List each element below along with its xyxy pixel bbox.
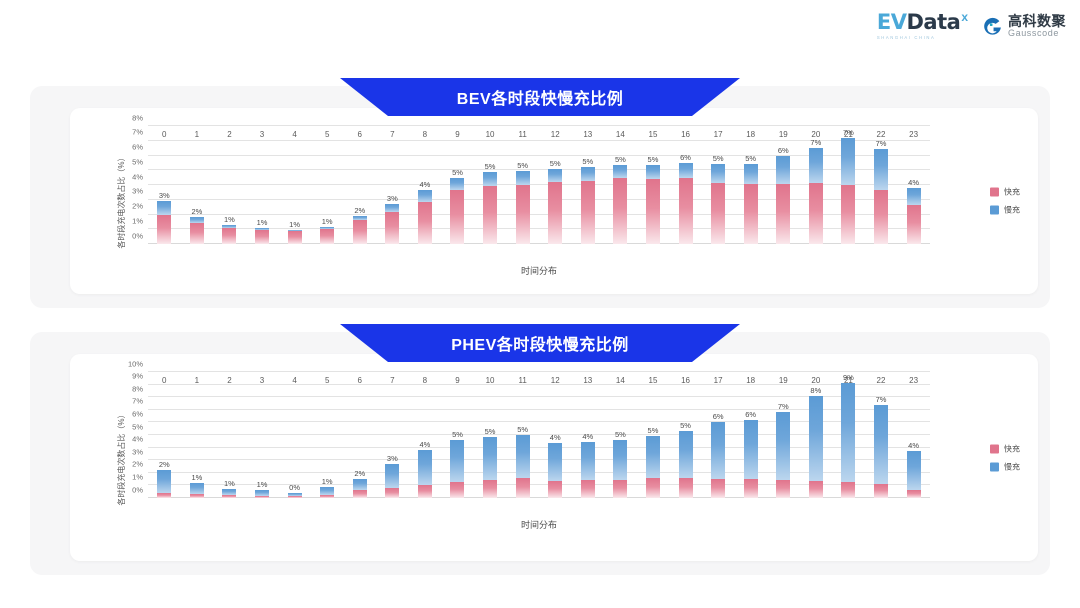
phev-bar-segment-fast[interactable] (711, 479, 725, 498)
phev-stacked-bar[interactable]: 5% (483, 437, 497, 498)
bev-x-tick: 2 (227, 130, 231, 139)
phev-stacked-bar[interactable]: 2% (157, 470, 171, 498)
bev-bar-slot[interactable]: 21% (213, 126, 246, 244)
phev-stacked-bar[interactable]: 5% (679, 431, 693, 498)
phev-x-tick: 1 (195, 376, 199, 385)
phev-bar-segment-slow[interactable] (483, 437, 497, 480)
bev-bar-segment-fast[interactable] (255, 230, 269, 244)
bev-bar-slot[interactable]: 84% (409, 126, 442, 244)
phev-y-tick: 6% (132, 409, 143, 418)
bev-x-tick: 8 (423, 130, 427, 139)
bev-bar-slot[interactable]: 51% (311, 126, 344, 244)
phev-legend-item[interactable]: 快充 (990, 443, 1020, 454)
phev-bar-value-label: 1% (224, 479, 235, 488)
phev-chart: 各时段充电次数占比（%） 0%1%2%3%4%5%6%7%8%9%10%02%1… (70, 354, 1038, 561)
phev-bar-segment-fast[interactable] (613, 480, 627, 498)
bev-legend-swatch (990, 188, 999, 197)
bev-y-tick: 2% (132, 202, 143, 211)
bev-bar-value-label: 5% (452, 168, 463, 177)
bev-bar-segment-slow[interactable] (157, 201, 171, 215)
bev-bar-value-label: 1% (257, 218, 268, 227)
bev-bar-segment-fast[interactable] (483, 186, 497, 244)
bev-y-tick: 5% (132, 157, 143, 166)
phev-bar-segment-slow[interactable] (581, 442, 595, 480)
phev-x-tick: 15 (649, 376, 658, 385)
phev-bar-slot[interactable]: 31% (246, 372, 279, 498)
phev-bar-slot[interactable]: 21% (213, 372, 246, 498)
phev-x-tick: 14 (616, 376, 625, 385)
bev-stacked-bar[interactable]: 5% (548, 169, 562, 244)
bev-bar-value-label: 1% (322, 217, 333, 226)
phev-stacked-bar[interactable]: 5% (613, 440, 627, 498)
bev-bar-segment-fast[interactable] (450, 190, 464, 244)
bev-x-tick: 23 (909, 130, 918, 139)
bev-bar-segment-slow[interactable] (581, 167, 595, 180)
phev-bar-slot[interactable]: 165% (669, 372, 702, 498)
phev-x-tick: 17 (714, 376, 723, 385)
bev-bar-slot[interactable]: 196% (767, 126, 800, 244)
bev-x-tick: 5 (325, 130, 329, 139)
bev-y-tick: 0% (132, 231, 143, 240)
bev-bar-segment-slow[interactable] (711, 164, 725, 183)
bev-stacked-bar[interactable]: 1% (222, 225, 236, 244)
bev-bar-segment-slow[interactable] (548, 169, 562, 182)
bev-stacked-bar[interactable]: 1% (320, 227, 334, 244)
bev-chart-card: 各时段充电次数占比（%） 0%1%2%3%4%5%6%7%8%03%12%21%… (70, 108, 1038, 294)
bev-stacked-bar[interactable]: 5% (450, 178, 464, 244)
bev-bar-segment-slow[interactable] (516, 171, 530, 185)
phev-bar-value-label: 5% (517, 425, 528, 434)
bev-bar-value-label: 7% (876, 139, 887, 148)
bev-stacked-bar[interactable]: 1% (288, 230, 302, 244)
phev-bar-segment-slow[interactable] (679, 431, 693, 479)
phev-x-tick: 20 (811, 376, 820, 385)
bev-bar-slot[interactable]: 185% (734, 126, 767, 244)
bev-y-tick: 3% (132, 187, 143, 196)
bev-bar-segment-fast[interactable] (711, 183, 725, 244)
bev-bar-slot[interactable]: 125% (539, 126, 572, 244)
bev-bar-value-label: 3% (387, 194, 398, 203)
bev-bar-value-label: 3% (159, 191, 170, 200)
phev-bar-value-label: 4% (550, 433, 561, 442)
phev-bar-value-label: 7% (778, 402, 789, 411)
phev-bar-value-label: 0% (289, 483, 300, 492)
phev-bar-segment-fast[interactable] (679, 478, 693, 498)
bev-bar-segment-fast[interactable] (809, 183, 823, 244)
phev-bar-segment-fast[interactable] (385, 488, 399, 498)
phev-bar-slot[interactable]: 115% (506, 372, 539, 498)
bev-legend-label: 慢充 (1004, 205, 1020, 216)
phev-x-tick: 2 (227, 376, 231, 385)
bev-stacked-bar[interactable]: 2% (353, 216, 367, 244)
phev-bar-segment-slow[interactable] (516, 435, 530, 478)
phev-y-tick: 3% (132, 447, 143, 456)
bev-stacked-bar[interactable]: 5% (646, 165, 660, 244)
phev-bar-segment-fast[interactable] (809, 481, 823, 498)
bev-bar-slot[interactable]: 03% (148, 126, 181, 244)
phev-bar-slot[interactable]: 11% (181, 372, 214, 498)
bev-bar-value-label: 2% (191, 207, 202, 216)
bev-legend-item[interactable]: 快充 (990, 187, 1020, 198)
bev-bar-value-label: 5% (745, 154, 756, 163)
phev-legend-label: 慢充 (1004, 461, 1020, 472)
phev-bar-segment-slow[interactable] (841, 383, 855, 482)
bev-bar-segment-slow[interactable] (190, 217, 204, 224)
phev-x-tick: 23 (909, 376, 918, 385)
phev-bar-segment-slow[interactable] (548, 443, 562, 481)
bev-bar-value-label: 5% (713, 154, 724, 163)
bev-bar-slot[interactable]: 115% (506, 126, 539, 244)
phev-bar-slot[interactable]: 124% (539, 372, 572, 498)
phev-x-tick: 9 (455, 376, 459, 385)
bev-plot-area: 0%1%2%3%4%5%6%7%8%03%12%21%31%41%51%62%7… (148, 126, 930, 244)
bev-stacked-bar[interactable]: 6% (679, 163, 693, 244)
phev-x-tick: 18 (746, 376, 755, 385)
phev-bar-segment-slow[interactable] (646, 436, 660, 478)
bev-bar-value-label: 6% (778, 146, 789, 155)
phev-stacked-bar[interactable]: 0% (288, 493, 302, 498)
bev-bar-slot[interactable]: 175% (702, 126, 735, 244)
phev-panel: 各时段充电次数占比（%） 0%1%2%3%4%5%6%7%8%9%10%02%1… (30, 332, 1050, 575)
phev-bar-segment-fast[interactable] (255, 496, 269, 499)
slide-page: EVData x SHANGHAI CHINA 高科数聚 Gausscode 各… (0, 0, 1080, 608)
phev-bar-slot[interactable]: 62% (343, 372, 376, 498)
phev-stacked-bar[interactable]: 7% (874, 405, 888, 498)
bev-bar-segment-fast[interactable] (418, 202, 432, 244)
bev-bar-segment-fast[interactable] (190, 223, 204, 244)
phev-legend: 快充慢充 (990, 443, 1020, 472)
phev-bar-slot[interactable]: 84% (409, 372, 442, 498)
phev-bar-segment-slow[interactable] (907, 451, 921, 490)
bev-bar-segment-fast[interactable] (841, 185, 855, 244)
bev-bar-segment-slow[interactable] (744, 164, 758, 184)
bev-x-tick: 1 (195, 130, 199, 139)
bev-bar-segment-fast[interactable] (385, 212, 399, 244)
bev-stacked-bar[interactable]: 4% (907, 188, 921, 244)
bev-y-tick: 8% (132, 113, 143, 122)
bev-stacked-bar[interactable]: 7% (841, 138, 855, 244)
phev-bar-segment-slow[interactable] (353, 479, 367, 490)
phev-bar-slot[interactable]: 73% (376, 372, 409, 498)
phev-legend-swatch (990, 462, 999, 471)
phev-stacked-bar[interactable]: 5% (450, 440, 464, 498)
bev-panel: 各时段充电次数占比（%） 0%1%2%3%4%5%6%7%8%03%12%21%… (30, 86, 1050, 308)
phev-stacked-bar[interactable]: 4% (418, 450, 432, 499)
bev-stacked-bar[interactable]: 5% (744, 164, 758, 244)
bev-x-tick: 15 (649, 130, 658, 139)
bev-bar-slot[interactable]: 155% (637, 126, 670, 244)
bev-x-tick: 3 (260, 130, 264, 139)
phev-stacked-bar[interactable]: 4% (548, 443, 562, 498)
bev-bar-slot[interactable]: 135% (572, 126, 605, 244)
bev-bar-segment-slow[interactable] (907, 188, 921, 205)
phev-x-tick: 5 (325, 376, 329, 385)
bev-bar-segment-fast[interactable] (776, 184, 790, 244)
phev-bar-segment-fast[interactable] (483, 480, 497, 498)
phev-stacked-bar[interactable]: 9% (841, 383, 855, 498)
bev-bar-segment-fast[interactable] (646, 179, 660, 244)
phev-x-tick: 19 (779, 376, 788, 385)
phev-bar-slot[interactable]: 51% (311, 372, 344, 498)
phev-bar-value-label: 5% (615, 430, 626, 439)
bev-bar-slot[interactable]: 31% (246, 126, 279, 244)
bev-bar-slot[interactable]: 145% (604, 126, 637, 244)
phev-y-tick: 10% (128, 359, 143, 368)
phev-legend-swatch (990, 444, 999, 453)
phev-x-tick: 6 (358, 376, 362, 385)
phev-bar-segment-slow[interactable] (809, 396, 823, 481)
bev-bar-slot[interactable]: 105% (474, 126, 507, 244)
bev-bar-segment-fast[interactable] (320, 229, 334, 244)
bev-bar-value-label: 7% (843, 128, 854, 137)
bev-bar-segment-slow[interactable] (841, 138, 855, 185)
phev-bar-slot[interactable]: 02% (148, 372, 181, 498)
phev-bar-segment-fast[interactable] (353, 490, 367, 498)
phev-bar-slot[interactable]: 219% (832, 372, 865, 498)
phev-bar-slot[interactable]: 40% (278, 372, 311, 498)
phev-x-tick: 10 (486, 376, 495, 385)
bev-stacked-bar[interactable]: 5% (516, 171, 530, 244)
phev-stacked-bar[interactable]: 5% (516, 435, 530, 498)
evdata-logo: EVData x SHANGHAI CHINA (877, 12, 968, 40)
bev-x-tick: 6 (358, 130, 362, 139)
bev-bar-segment-slow[interactable] (450, 178, 464, 191)
phev-stacked-bar[interactable]: 8% (809, 396, 823, 498)
bev-bar-segment-fast[interactable] (744, 184, 758, 244)
bev-bar-segment-fast[interactable] (353, 220, 367, 244)
bev-bar-value-label: 4% (419, 180, 430, 189)
phev-stacked-bar[interactable]: 5% (646, 436, 660, 498)
bev-bar-segment-fast[interactable] (548, 182, 562, 244)
phev-bar-segment-fast[interactable] (841, 482, 855, 498)
phev-x-tick: 16 (681, 376, 690, 385)
bev-bar-slot[interactable]: 166% (669, 126, 702, 244)
phev-bar-segment-fast[interactable] (516, 478, 530, 498)
bev-bar-slot[interactable]: 234% (897, 126, 930, 244)
bev-bar-segment-fast[interactable] (222, 228, 236, 244)
bev-bar-segment-fast[interactable] (679, 178, 693, 244)
bev-stacked-bar[interactable]: 3% (385, 204, 399, 244)
phev-bar-slot[interactable]: 186% (734, 372, 767, 498)
bev-bar-segment-slow[interactable] (483, 172, 497, 186)
bev-bar-segment-slow[interactable] (679, 163, 693, 178)
phev-title-banner: PHEV各时段快慢充比例 (340, 324, 740, 362)
phev-bar-value-label: 1% (257, 480, 268, 489)
phev-legend-item[interactable]: 慢充 (990, 461, 1020, 472)
phev-bar-segment-slow[interactable] (776, 412, 790, 480)
bev-bar-slot[interactable]: 12% (181, 126, 214, 244)
bev-chart: 各时段充电次数占比（%） 0%1%2%3%4%5%6%7%8%03%12%21%… (70, 108, 1038, 294)
bev-bar-slot[interactable]: 227% (865, 126, 898, 244)
bev-bar-segment-slow[interactable] (385, 204, 399, 212)
phev-stacked-bar[interactable]: 6% (711, 422, 725, 498)
phev-x-tick: 13 (583, 376, 592, 385)
bev-bar-segment-fast[interactable] (874, 190, 888, 244)
gausscode-logo: 高科数聚 Gausscode (982, 14, 1066, 37)
phev-bar-segment-slow[interactable] (711, 422, 725, 479)
bev-x-tick: 4 (292, 130, 296, 139)
bev-bar-segment-slow[interactable] (613, 165, 627, 178)
phev-bar-segment-fast[interactable] (907, 490, 921, 498)
bev-stacked-bar[interactable]: 7% (809, 148, 823, 244)
phev-x-tick: 0 (162, 376, 166, 385)
phev-x-tick: 8 (423, 376, 427, 385)
bev-bar-slot[interactable]: 207% (800, 126, 833, 244)
phev-bar-slot[interactable]: 176% (702, 372, 735, 498)
bev-x-tick: 17 (714, 130, 723, 139)
bev-stacked-bar[interactable]: 5% (581, 167, 595, 244)
phev-y-axis-label: 各时段充电次数占比（%） (116, 410, 127, 505)
phev-stacked-bar[interactable]: 1% (222, 489, 236, 498)
bev-bar-value-label: 5% (550, 159, 561, 168)
phev-bar-segment-fast[interactable] (744, 479, 758, 498)
bev-bar-segment-fast[interactable] (288, 231, 302, 244)
bev-y-axis-label: 各时段充电次数占比（%） (116, 153, 127, 248)
phev-bar-segment-slow[interactable] (190, 483, 204, 494)
phev-y-tick: 8% (132, 384, 143, 393)
phev-bar-slot[interactable]: 234% (897, 372, 930, 498)
bev-stacked-bar[interactable]: 3% (157, 201, 171, 244)
bev-x-tick: 13 (583, 130, 592, 139)
evdata-word: EVData (877, 12, 960, 33)
evdata-superscript-icon: x (961, 10, 968, 24)
bev-bar-segment-slow[interactable] (418, 190, 432, 202)
phev-y-tick: 7% (132, 397, 143, 406)
phev-bar-slot[interactable]: 227% (865, 372, 898, 498)
gausscode-cn: 高科数聚 (1008, 14, 1066, 28)
bev-bar-segment-fast[interactable] (613, 178, 627, 244)
bev-bar-slot[interactable]: 73% (376, 126, 409, 244)
phev-bar-segment-fast[interactable] (450, 482, 464, 498)
phev-bar-segment-fast[interactable] (288, 496, 302, 498)
gausscode-text: 高科数聚 Gausscode (1008, 14, 1066, 37)
bev-bar-value-label: 5% (485, 162, 496, 171)
bev-legend-item[interactable]: 慢充 (990, 205, 1020, 216)
phev-bar-value-label: 5% (485, 427, 496, 436)
bev-stacked-bar[interactable]: 2% (190, 217, 204, 244)
bev-stacked-bar[interactable]: 5% (483, 172, 497, 244)
bev-bar-segment-fast[interactable] (907, 205, 921, 244)
bev-bar-value-label: 5% (648, 155, 659, 164)
phev-bar-slot[interactable]: 197% (767, 372, 800, 498)
phev-bar-segment-slow[interactable] (744, 420, 758, 479)
phev-bar-segment-slow[interactable] (157, 470, 171, 493)
bev-bar-segment-fast[interactable] (516, 185, 530, 244)
phev-y-tick: 1% (132, 472, 143, 481)
bev-bar-segment-slow[interactable] (809, 148, 823, 183)
phev-bar-segment-fast[interactable] (157, 493, 171, 498)
bev-bar-slot[interactable]: 217% (832, 126, 865, 244)
bev-bar-slot[interactable]: 62% (343, 126, 376, 244)
phev-bar-segment-fast[interactable] (222, 495, 236, 498)
phev-bar-segment-slow[interactable] (874, 405, 888, 484)
bev-stacked-bar[interactable]: 1% (255, 228, 269, 244)
phev-bar-slot[interactable]: 105% (474, 372, 507, 498)
phev-bar-slot[interactable]: 208% (800, 372, 833, 498)
phev-bar-segment-slow[interactable] (320, 487, 334, 495)
phev-bar-value-label: 1% (191, 473, 202, 482)
phev-bar-slot[interactable]: 155% (637, 372, 670, 498)
bev-stacked-bar[interactable]: 5% (613, 165, 627, 244)
phev-bar-segment-fast[interactable] (874, 484, 888, 498)
phev-stacked-bar[interactable]: 3% (385, 464, 399, 498)
phev-x-tick: 11 (518, 376, 526, 385)
phev-stacked-bar[interactable]: 1% (255, 490, 269, 498)
bev-y-tick: 6% (132, 143, 143, 152)
bev-x-tick: 19 (779, 130, 788, 139)
phev-y-tick: 0% (132, 485, 143, 494)
phev-stacked-bar[interactable]: 1% (320, 487, 334, 498)
bev-y-tick: 4% (132, 172, 143, 181)
phev-bar-segment-slow[interactable] (450, 440, 464, 482)
bev-stacked-bar[interactable]: 7% (874, 149, 888, 244)
phev-bar-segment-fast[interactable] (320, 495, 334, 498)
bev-x-tick: 10 (486, 130, 495, 139)
bev-bar-group: 03%12%21%31%41%51%62%73%84%95%105%115%12… (148, 126, 930, 244)
bev-x-tick: 16 (681, 130, 690, 139)
bev-bar-value-label: 5% (582, 157, 593, 166)
bev-stacked-bar[interactable]: 6% (776, 156, 790, 244)
phev-plot-area: 0%1%2%3%4%5%6%7%8%9%10%02%11%21%31%40%51… (148, 372, 930, 498)
bev-x-tick: 18 (746, 130, 755, 139)
phev-stacked-bar[interactable]: 4% (581, 442, 595, 498)
phev-bar-segment-fast[interactable] (190, 494, 204, 498)
phev-stacked-bar[interactable]: 2% (353, 479, 367, 498)
phev-bar-segment-slow[interactable] (385, 464, 399, 488)
bev-bar-slot[interactable]: 41% (278, 126, 311, 244)
phev-bar-slot[interactable]: 95% (441, 372, 474, 498)
bev-bar-segment-slow[interactable] (776, 156, 790, 183)
bev-legend-swatch (990, 206, 999, 215)
phev-y-tick: 2% (132, 460, 143, 469)
phev-bar-segment-fast[interactable] (548, 481, 562, 498)
phev-bar-segment-slow[interactable] (613, 440, 627, 480)
bev-bar-segment-fast[interactable] (581, 181, 595, 244)
evdata-suffix: Data (907, 10, 961, 34)
phev-bar-slot[interactable]: 145% (604, 372, 637, 498)
phev-stacked-bar[interactable]: 6% (744, 420, 758, 498)
bev-stacked-bar[interactable]: 5% (711, 164, 725, 244)
phev-stacked-bar[interactable]: 4% (907, 451, 921, 498)
phev-stacked-bar[interactable]: 7% (776, 412, 790, 498)
phev-bar-slot[interactable]: 134% (572, 372, 605, 498)
phev-bar-value-label: 5% (680, 421, 691, 430)
phev-bar-segment-fast[interactable] (418, 485, 432, 498)
phev-bar-segment-fast[interactable] (581, 480, 595, 498)
bev-bar-segment-slow[interactable] (646, 165, 660, 179)
phev-bar-segment-fast[interactable] (646, 478, 660, 498)
phev-y-tick: 4% (132, 435, 143, 444)
logo-bar: EVData x SHANGHAI CHINA 高科数聚 Gausscode (877, 12, 1066, 40)
bev-bar-slot[interactable]: 95% (441, 126, 474, 244)
phev-bar-segment-fast[interactable] (776, 480, 790, 498)
bev-stacked-bar[interactable]: 4% (418, 190, 432, 244)
phev-x-tick: 4 (292, 376, 296, 385)
bev-bar-value-label: 7% (810, 138, 821, 147)
bev-x-tick: 22 (877, 130, 886, 139)
gausscode-en: Gausscode (1008, 29, 1066, 38)
bev-legend: 快充慢充 (990, 187, 1020, 216)
phev-bar-value-label: 5% (452, 430, 463, 439)
bev-y-tick: 1% (132, 216, 143, 225)
bev-legend-label: 快充 (1004, 187, 1020, 198)
phev-bar-segment-slow[interactable] (418, 450, 432, 486)
bev-bar-segment-fast[interactable] (157, 215, 171, 244)
bev-bar-segment-slow[interactable] (874, 149, 888, 190)
phev-x-tick: 3 (260, 376, 264, 385)
phev-x-tick: 12 (551, 376, 560, 385)
phev-stacked-bar[interactable]: 1% (190, 483, 204, 498)
